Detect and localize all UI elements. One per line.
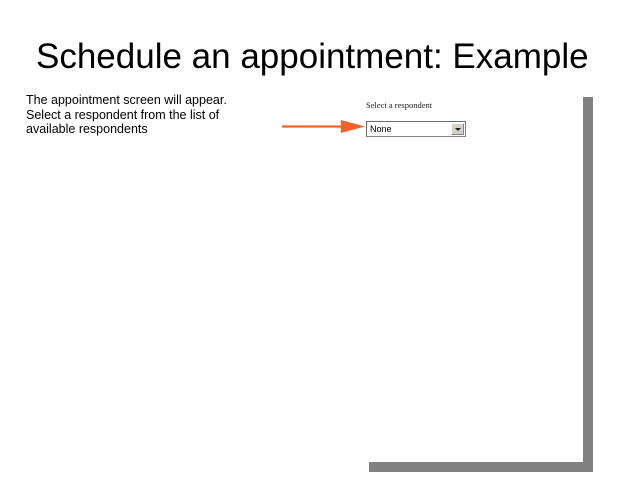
page-title: Schedule an appointment: Example	[36, 36, 616, 78]
slide-canvas: Schedule an appointment: Example The app…	[0, 0, 640, 480]
callout-arrow-head	[341, 120, 365, 133]
chevron-down-icon	[455, 128, 461, 131]
respondent-dropdown-value: None	[370, 124, 392, 135]
respondent-dropdown-button[interactable]	[451, 123, 464, 135]
callout-arrow-icon	[281, 118, 367, 135]
screenshot-frame-right-edge	[583, 97, 593, 472]
respondent-dropdown[interactable]: None	[366, 121, 466, 137]
screenshot-frame-bottom-edge	[369, 462, 593, 472]
instruction-text: The appointment screen will appear. Sele…	[26, 93, 261, 137]
select-respondent-label: Select a respondent	[366, 100, 432, 110]
